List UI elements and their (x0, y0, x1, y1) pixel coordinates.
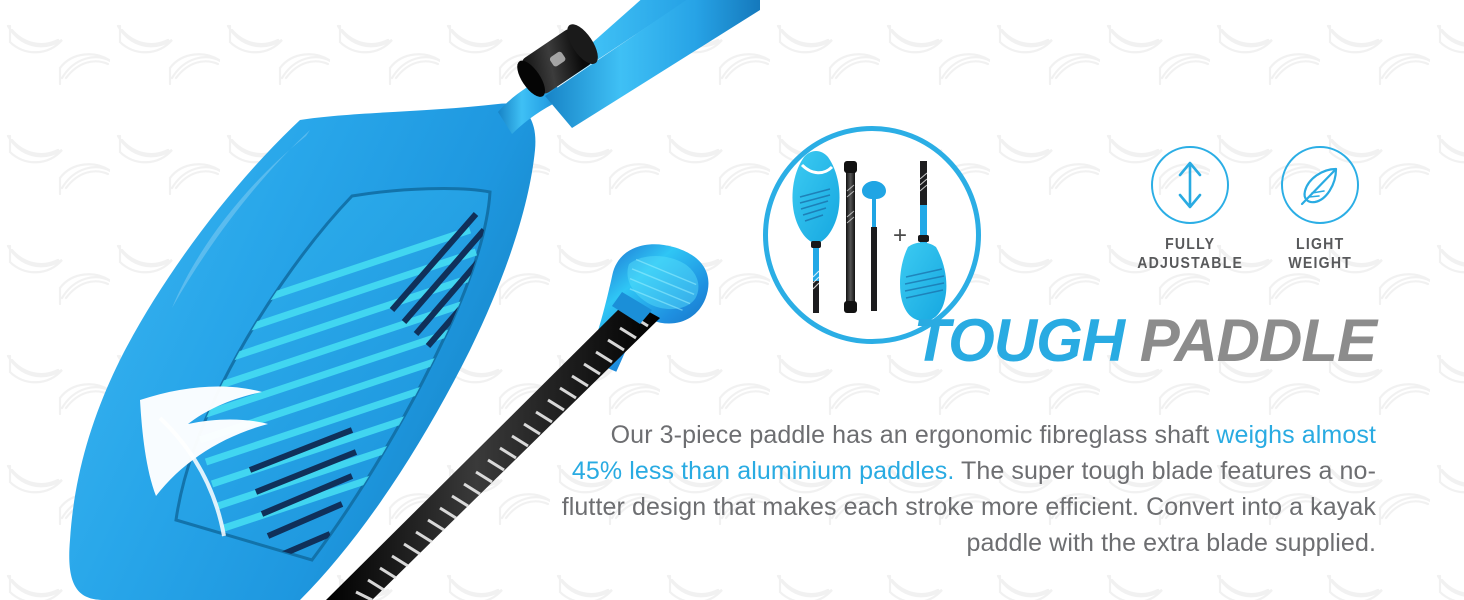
grip-piece (862, 181, 886, 311)
feather-icon (1296, 161, 1344, 209)
sup-blade-piece (792, 151, 839, 313)
up-down-arrow-icon (1167, 158, 1213, 212)
t-grip-handle (587, 234, 715, 387)
page-title: TOUGH PADDLE (700, 310, 1376, 372)
blade-navy-stripes-lower (250, 430, 356, 558)
badge-ring-adjustable (1151, 146, 1229, 224)
headline-strong: TOUGH (914, 307, 1125, 374)
badge-light-weight: LIGHT WEIGHT (1273, 146, 1367, 273)
ferrule-collar (511, 19, 604, 102)
feature-badges: FULLY ADJUSTABLE LIGHT WEIGHT (1130, 146, 1380, 273)
product-feature-banner: + + (0, 0, 1464, 600)
badge-label-adjustable: FULLY ADJUSTABLE (1137, 235, 1243, 273)
blade-cyan-stripes (170, 230, 524, 528)
headline-muted: PADDLE (1140, 307, 1376, 374)
plus-icon: + (893, 222, 907, 249)
blade-inner-panel (176, 189, 490, 560)
blade-swoosh-logo (140, 386, 268, 536)
paddle-blade-face (69, 103, 535, 600)
description-part-1: Our 3-piece paddle has an ergonomic fibr… (611, 421, 1217, 449)
badge-label-lightweight: LIGHT WEIGHT (1288, 235, 1352, 273)
blade-highlight (172, 130, 310, 308)
upper-shaft-2 (545, 0, 760, 128)
description-paragraph: Our 3-piece paddle has an ergonomic fibr… (560, 417, 1376, 561)
shaft-piece (844, 161, 857, 313)
badge-fully-adjustable: FULLY ADJUSTABLE (1143, 146, 1237, 273)
blade-navy-stripes-upper (392, 214, 498, 370)
blade-neck (498, 76, 566, 134)
upper-shaft (505, 0, 760, 120)
badge-ring-lightweight (1281, 146, 1359, 224)
